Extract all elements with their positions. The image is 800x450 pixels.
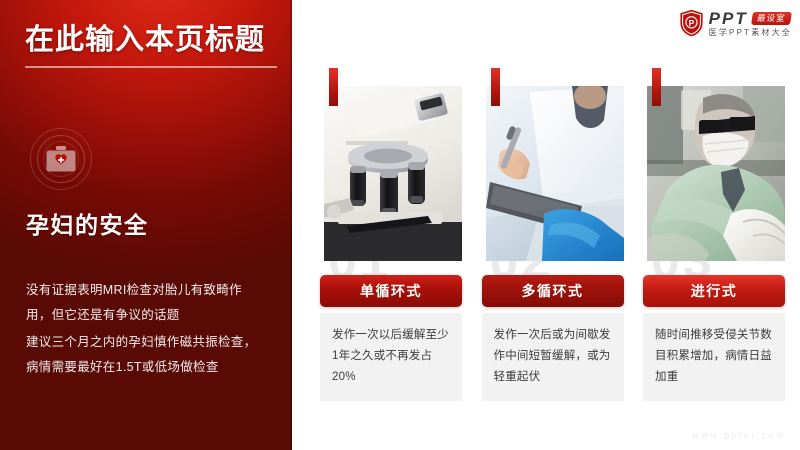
card-button[interactable]: 进行式 <box>643 275 785 307</box>
bag-glyph <box>45 145 77 173</box>
card-body-text: 发作一次以后缓解至少1年之久或不再发占20% <box>320 313 462 401</box>
card-accent-tab <box>329 68 338 106</box>
svg-text:P: P <box>688 18 694 28</box>
left-panel-paragraph-1: 没有证据表明MRI检查对胎儿有致畸作用，但它还是有争议的话题 <box>26 278 266 328</box>
left-panel-paragraph-2: 建议三个月之内的孕妇慎作磁共振检查，病情需要最好在1.5T或低场做检查 <box>26 330 266 380</box>
card-photo-area: 02 <box>482 68 624 261</box>
cards-row: 01 <box>320 68 785 401</box>
card-button[interactable]: 多循环式 <box>482 275 624 307</box>
card-02[interactable]: 02 <box>482 68 624 401</box>
medical-bag-icon <box>28 126 94 192</box>
card-button[interactable]: 单循环式 <box>320 275 462 307</box>
card-03[interactable]: 03 <box>643 68 785 401</box>
footer-watermark: www.ppter.com <box>692 430 786 440</box>
slide-canvas: 在此输入本页标题 孕妇的安全 没有证据表明MRI检查对胎儿有致畸作用，但它还是有… <box>0 0 800 450</box>
card-photo-area: 01 <box>320 68 462 261</box>
logo-badge: 最设室 <box>751 12 791 25</box>
page-title: 在此输入本页标题 <box>25 20 275 60</box>
card-body-text: 发作一次后或为间歇发作中间短暂缓解，或为轻重起伏 <box>482 313 624 401</box>
logo-brand-text: PPT <box>709 10 748 27</box>
card-01[interactable]: 01 <box>320 68 462 401</box>
logo-tagline: 医学PPT素材大全 <box>709 28 792 37</box>
logo-primary-row: PPT 最设室 <box>709 10 792 27</box>
card-accent-tab <box>652 68 661 106</box>
left-panel-heading: 孕妇的安全 <box>26 206 149 240</box>
shield-icon: P <box>679 9 704 37</box>
brand-logo[interactable]: P PPT 最设室 医学PPT素材大全 <box>679 7 792 39</box>
card-accent-tab <box>491 68 500 106</box>
microscope-photo <box>324 86 462 261</box>
logo-text-block: PPT 最设室 医学PPT素材大全 <box>709 10 792 37</box>
card-photo-area: 03 <box>643 68 785 261</box>
title-underline <box>25 66 277 68</box>
doctor-writing-photo <box>486 86 624 261</box>
left-red-panel: 在此输入本页标题 孕妇的安全 没有证据表明MRI检查对胎儿有致畸作用，但它还是有… <box>0 0 292 450</box>
surgeon-photo <box>647 86 785 261</box>
card-body-text: 随时间推移受侵关节数目积累增加，病情日益加重 <box>643 313 785 401</box>
